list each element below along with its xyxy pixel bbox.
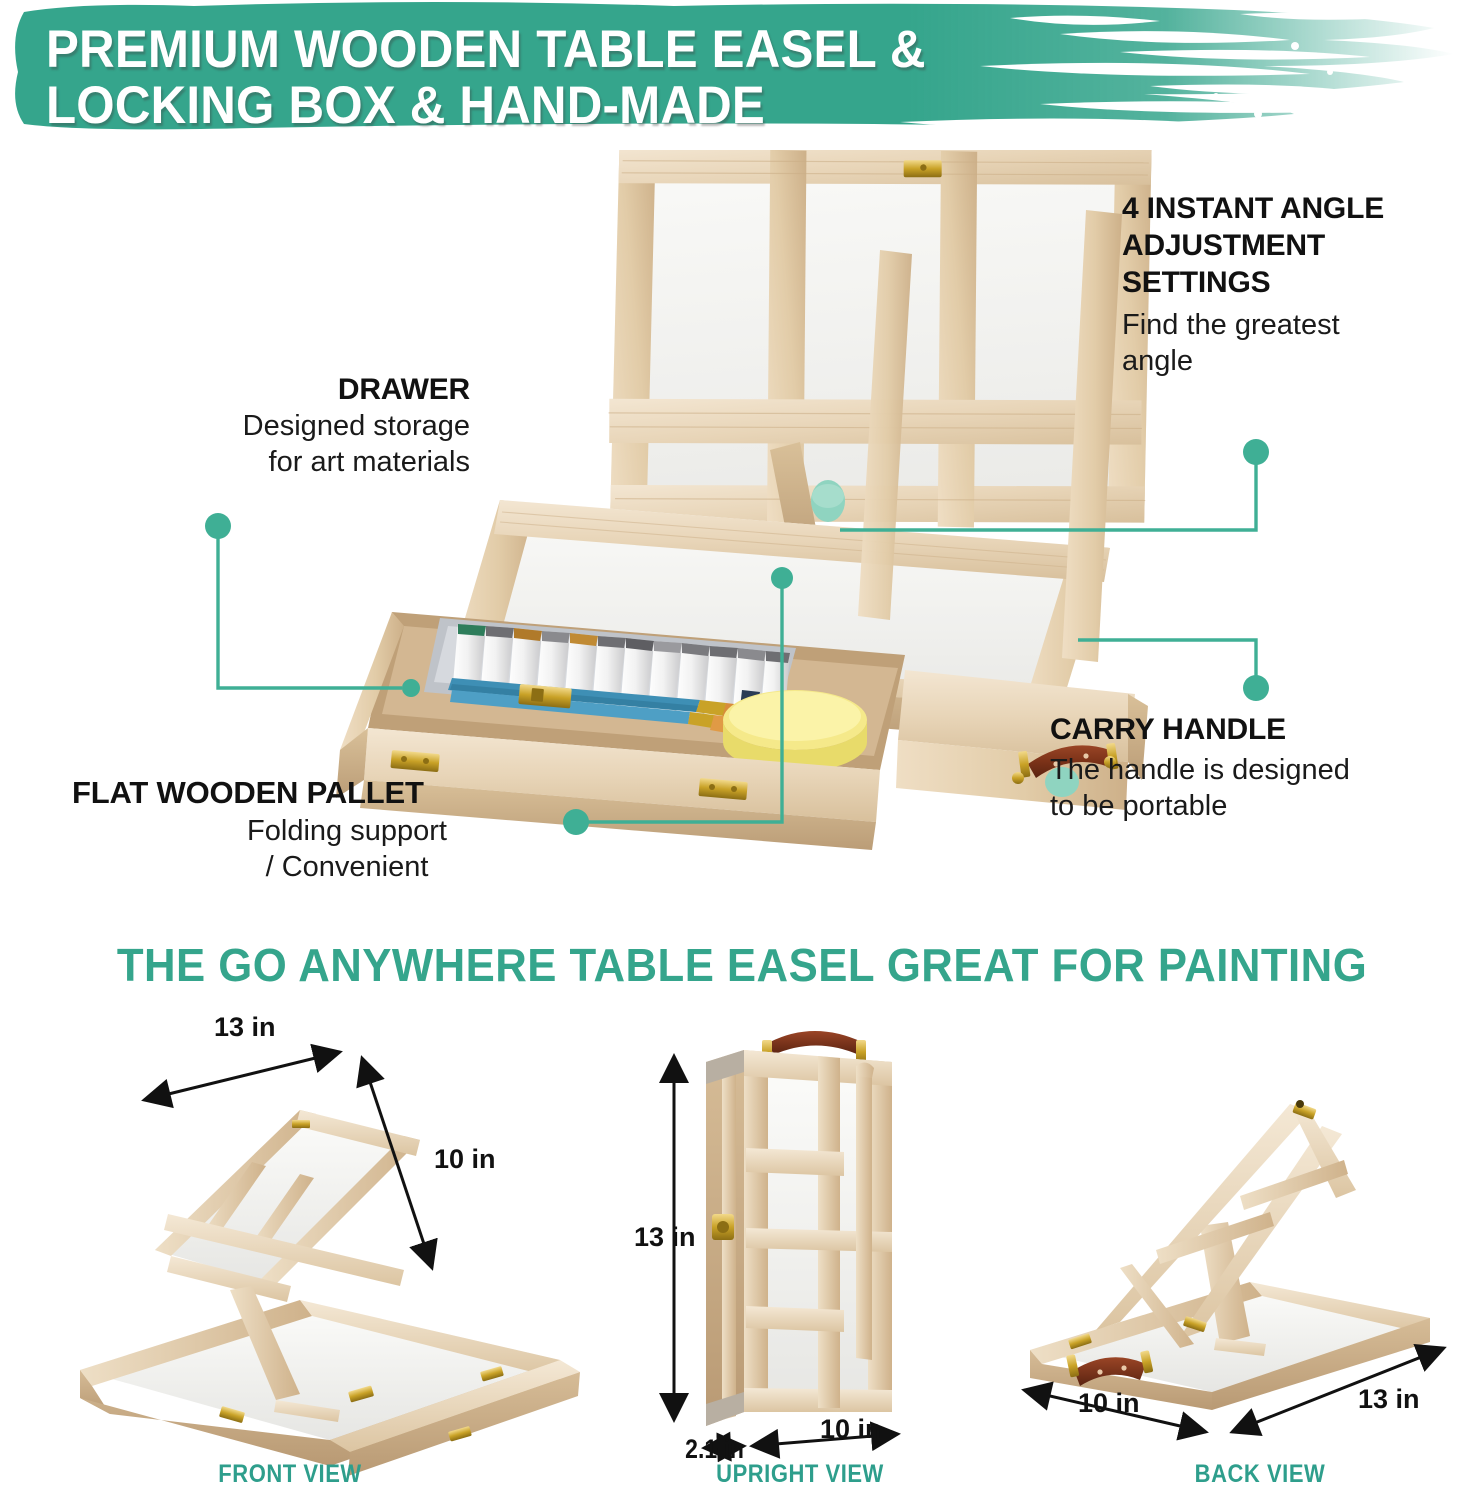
dim-label-upright-height: 13 in [634, 1222, 696, 1253]
caption-back-view: BACK VIEW [1154, 1460, 1365, 1489]
upright-brass-clasp [712, 1214, 734, 1240]
view-upright [674, 1031, 898, 1448]
callout-dot-drawer [205, 513, 231, 539]
dim-label-upright-width: 10 in [820, 1414, 882, 1445]
dim-label-back-depth: 13 in [1358, 1384, 1420, 1415]
callout-anchor-drawer [402, 679, 420, 697]
section-heading: THE GO ANYWHERE TABLE EASEL GREAT FOR PA… [37, 938, 1447, 992]
caption-front-view: FRONT VIEW [184, 1460, 395, 1489]
callout-handle-title: CARRY HANDLE [1050, 712, 1470, 748]
callout-drawer: DRAWER Designed storage for art material… [120, 372, 470, 480]
view-front [80, 1052, 580, 1476]
view-back [1024, 1100, 1444, 1432]
callout-drawer-subtitle: Designed storage for art materials [120, 408, 470, 480]
callout-pallet-subtitle: Folding support / Convenient [72, 813, 562, 885]
callout-angle-subtitle: Find the greatest angle [1122, 307, 1484, 379]
callout-dot-pallet [563, 809, 589, 835]
dim-label-front-depth: 10 in [434, 1144, 496, 1175]
callout-dot-handle [1243, 675, 1269, 701]
callout-flat-wooden-pallet: FLAT WOODEN PALLET Folding support / Con… [72, 775, 562, 885]
callout-dot-angle [1243, 439, 1269, 465]
callout-drawer-title: DRAWER [120, 372, 470, 408]
dim-label-front-width: 13 in [214, 1012, 276, 1043]
callout-angle-adjustment: 4 INSTANT ANGLE ADJUSTMENT SETTINGS Find… [1122, 190, 1484, 379]
callout-angle-title: 4 INSTANT ANGLE ADJUSTMENT SETTINGS [1122, 190, 1484, 301]
callout-handle-subtitle: The handle is designed to be portable [1050, 752, 1470, 824]
callout-anchor-pallet [771, 567, 793, 589]
callout-carry-handle: CARRY HANDLE The handle is designed to b… [1050, 712, 1470, 824]
product-views-row [0, 1000, 1484, 1500]
dim-line-front-width [144, 1052, 340, 1100]
views-illustration [0, 1000, 1484, 1500]
caption-upright-view: UPRIGHT VIEW [694, 1460, 905, 1489]
callout-pallet-title: FLAT WOODEN PALLET [72, 775, 562, 811]
dim-label-back-width: 10 in [1078, 1388, 1140, 1419]
